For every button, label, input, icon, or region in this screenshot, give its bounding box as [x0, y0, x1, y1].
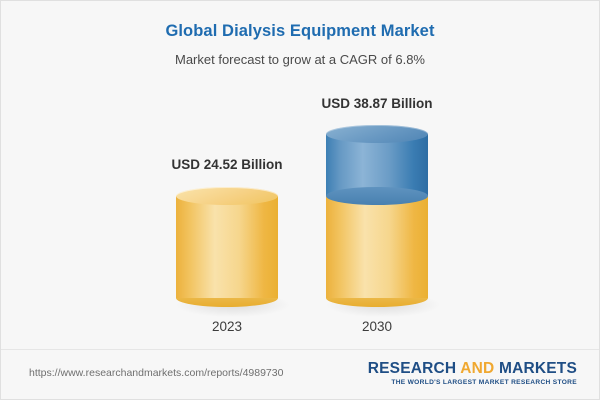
- value-label-2023: USD 24.52 Billion: [117, 157, 337, 172]
- logo-word-research: RESEARCH: [368, 360, 457, 377]
- cylinder-segment-divider-ellipse-2030: [326, 187, 428, 205]
- logo-tagline: THE WORLD'S LARGEST MARKET RESEARCH STOR…: [368, 379, 577, 386]
- cylinder-top-ellipse-2023: [176, 187, 278, 205]
- infographic-card: Global Dialysis Equipment Market Market …: [0, 0, 600, 400]
- category-label-2030: 2030: [267, 319, 487, 334]
- footer: https://www.researchandmarkets.com/repor…: [1, 349, 600, 399]
- cylinder-body-base-segment-2030: [326, 196, 428, 298]
- logo-word-and: AND: [456, 360, 499, 377]
- cylinder-top-ellipse-2030: [326, 125, 428, 143]
- research-and-markets-logo[interactable]: RESEARCH AND MARKETS THE WORLD'S LARGEST…: [368, 360, 577, 386]
- logo-word-markets: MARKETS: [499, 360, 577, 377]
- bar-cylinder-2023: [176, 187, 278, 307]
- bar-cylinder-2030: [326, 125, 428, 307]
- cylinder-body-2023: [176, 196, 278, 298]
- report-url-link[interactable]: https://www.researchandmarkets.com/repor…: [29, 367, 283, 379]
- logo-wordmark: RESEARCH AND MARKETS: [368, 360, 577, 377]
- chart-plot-area: USD 24.52 Billion 2023 USD 38.87 Billion: [1, 1, 600, 350]
- value-label-2030: USD 38.87 Billion: [267, 96, 487, 111]
